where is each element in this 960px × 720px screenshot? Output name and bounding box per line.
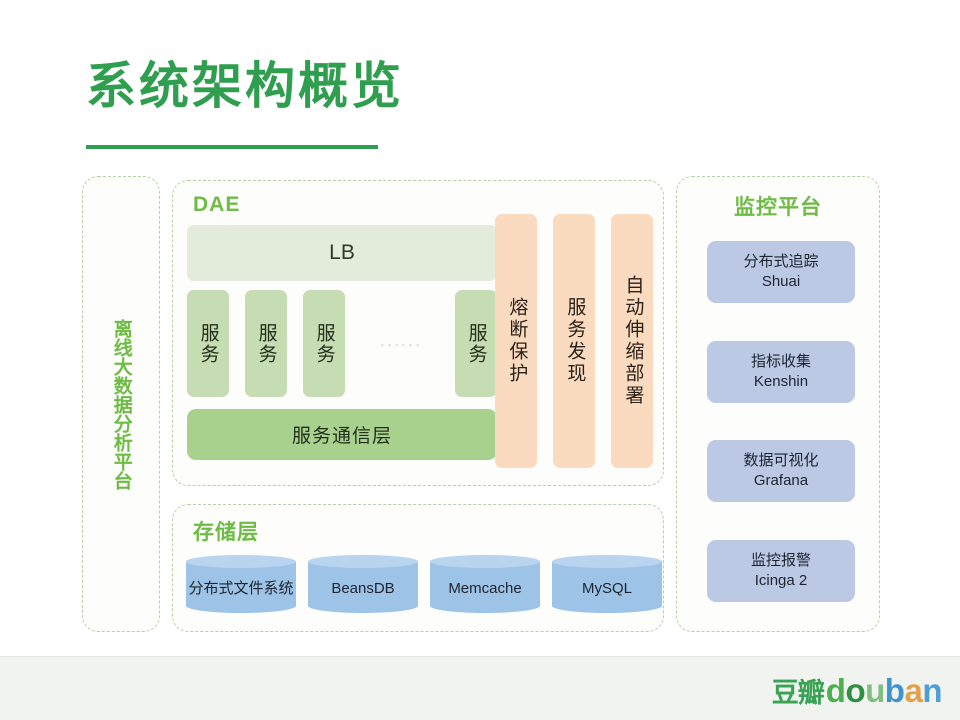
monitoring-card-tool: Shuai [762, 272, 800, 292]
footer-bar: 豆瓣 d o u b a n [0, 656, 960, 720]
offline-bigdata-platform-container: 离线大数据分析平台 [82, 176, 160, 632]
monitoring-platform-container: 监控平台 分布式追踪 Shuai 指标收集 Kenshin 数据可视化 Graf… [676, 176, 880, 632]
storage-layer-label: 存储层 [193, 516, 259, 546]
douban-logo-cn: 豆瓣 [772, 671, 824, 710]
title-underline [86, 145, 378, 149]
service-block: 服务 [187, 290, 229, 397]
douban-logo-letter-u: u [865, 672, 885, 710]
service-block: 服务 [455, 290, 497, 397]
monitoring-card-title: 分布式追踪 [743, 252, 818, 272]
monitoring-card-title: 指标收集 [751, 352, 811, 372]
database-cylinder: MySQL [552, 555, 662, 613]
douban-logo-letter-o: o [845, 672, 865, 710]
cylinder-label: BeansDB [308, 565, 418, 613]
autoscaling-deploy-label: 自动伸缩部署 [621, 275, 644, 407]
monitoring-platform-label: 监控平台 [677, 191, 879, 221]
cylinder-label: Memcache [430, 565, 540, 613]
douban-logo-letter-n: n [922, 672, 942, 710]
dae-container: DAE LB 服务 服务 服务 ······ 服务 服务通信层 熔断保护 服务发… [172, 180, 664, 486]
service-block: 服务 [303, 290, 345, 397]
service-block: 服务 [245, 290, 287, 397]
dae-label: DAE [193, 193, 240, 217]
autoscaling-deploy-pillar: 自动伸缩部署 [611, 214, 653, 468]
slide-canvas: 系统架构概览 离线大数据分析平台 DAE LB 服务 服务 服务 ······ … [0, 0, 960, 720]
service-discovery-label: 服务发现 [563, 297, 586, 385]
lb-block: LB [187, 225, 497, 281]
service-label: 服务 [464, 323, 487, 365]
douban-logo-letter-b: b [885, 672, 905, 710]
storage-layer-container: 存储层 分布式文件系统 BeansDB Memcache MySQL [172, 504, 664, 632]
service-discovery-pillar: 服务发现 [553, 214, 595, 468]
monitoring-card-tool: Kenshin [754, 372, 808, 392]
circuit-breaker-pillar: 熔断保护 [495, 214, 537, 468]
douban-logo-letter-d: d [826, 672, 846, 710]
database-cylinder: Memcache [430, 555, 540, 613]
service-ellipsis: ······ [359, 336, 443, 353]
monitoring-card-tool: Grafana [754, 471, 808, 491]
douban-logo-letter-a: a [904, 672, 922, 710]
monitoring-card: 监控报警 Icinga 2 [707, 540, 855, 602]
page-title: 系统架构概览 [86, 58, 404, 116]
monitoring-card-tool: Icinga 2 [755, 571, 808, 591]
douban-logo: 豆瓣 d o u b a n [772, 671, 942, 710]
title-block: 系统架构概览 [86, 58, 404, 116]
offline-bigdata-platform-label: 离线大数据分析平台 [83, 224, 159, 584]
database-cylinder: 分布式文件系统 [186, 555, 296, 613]
monitoring-card: 数据可视化 Grafana [707, 440, 855, 502]
monitoring-card-title: 数据可视化 [743, 451, 818, 471]
monitoring-card: 指标收集 Kenshin [707, 341, 855, 403]
service-label: 服务 [254, 323, 277, 365]
circuit-breaker-label: 熔断保护 [505, 297, 528, 385]
monitoring-card: 分布式追踪 Shuai [707, 241, 855, 303]
database-cylinder: BeansDB [308, 555, 418, 613]
cylinder-label: MySQL [552, 565, 662, 613]
monitoring-card-title: 监控报警 [751, 551, 811, 571]
cylinder-label: 分布式文件系统 [186, 565, 296, 613]
service-communication-layer-block: 服务通信层 [187, 409, 497, 460]
service-label: 服务 [196, 323, 219, 365]
service-label: 服务 [312, 323, 335, 365]
